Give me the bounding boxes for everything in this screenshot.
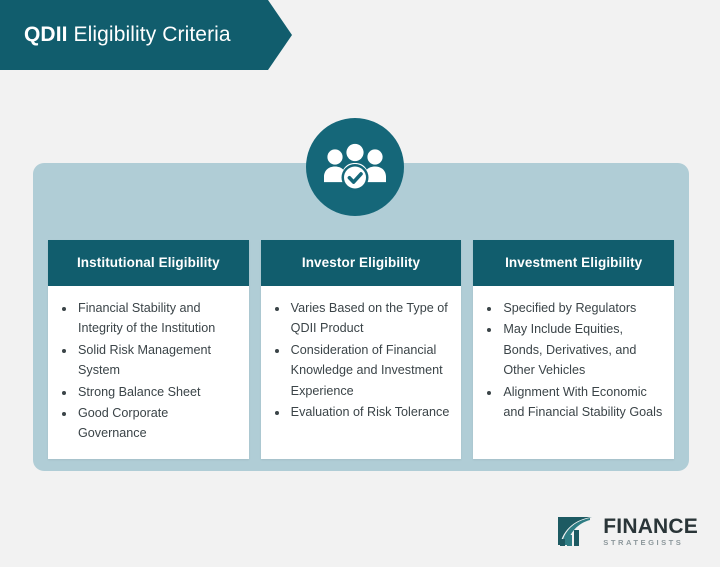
bullet-list: Varies Based on the Type of QDII Product… (267, 298, 452, 422)
bullet-list: Specified by Regulators May Include Equi… (479, 298, 664, 422)
list-item: Financial Stability and Integrity of the… (76, 298, 239, 339)
eligibility-cards-row: Institutional Eligibility Financial Stab… (48, 240, 674, 459)
logo-text: FINANCE STRATEGISTS (603, 516, 698, 547)
page-title: QDII Eligibility Criteria (0, 23, 231, 47)
bullet-list: Financial Stability and Integrity of the… (54, 298, 239, 444)
list-item: Specified by Regulators (501, 298, 664, 318)
list-item: Alignment With Economic and Financial St… (501, 382, 664, 423)
card-investor-eligibility: Investor Eligibility Varies Based on the… (261, 240, 462, 459)
page-title-rest: Eligibility Criteria (68, 23, 231, 46)
card-title: Investor Eligibility (261, 240, 462, 286)
list-item: Good Corporate Governance (76, 403, 239, 444)
card-title: Institutional Eligibility (48, 240, 249, 286)
list-item: Solid Risk Management System (76, 340, 239, 381)
list-item: Varies Based on the Type of QDII Product (289, 298, 452, 339)
card-institutional-eligibility: Institutional Eligibility Financial Stab… (48, 240, 249, 459)
people-check-icon (306, 118, 404, 216)
card-investment-eligibility: Investment Eligibility Specified by Regu… (473, 240, 674, 459)
header-banner: QDII Eligibility Criteria (0, 0, 292, 70)
growth-chart-logo-icon (556, 515, 596, 547)
card-body: Varies Based on the Type of QDII Product… (261, 286, 462, 459)
list-item: Consideration of Financial Knowledge and… (289, 340, 452, 401)
logo-primary-text: FINANCE (603, 516, 698, 537)
brand-logo: FINANCE STRATEGISTS (556, 515, 698, 547)
logo-secondary-text: STRATEGISTS (603, 539, 698, 547)
list-item: Strong Balance Sheet (76, 382, 239, 402)
list-item: Evaluation of Risk Tolerance (289, 402, 452, 422)
card-body: Specified by Regulators May Include Equi… (473, 286, 674, 459)
card-body: Financial Stability and Integrity of the… (48, 286, 249, 459)
page-title-bold: QDII (24, 23, 68, 46)
card-title: Investment Eligibility (473, 240, 674, 286)
infographic-canvas: QDII Eligibility Criteria Institutional … (0, 0, 720, 567)
list-item: May Include Equities, Bonds, Derivatives… (501, 319, 664, 380)
